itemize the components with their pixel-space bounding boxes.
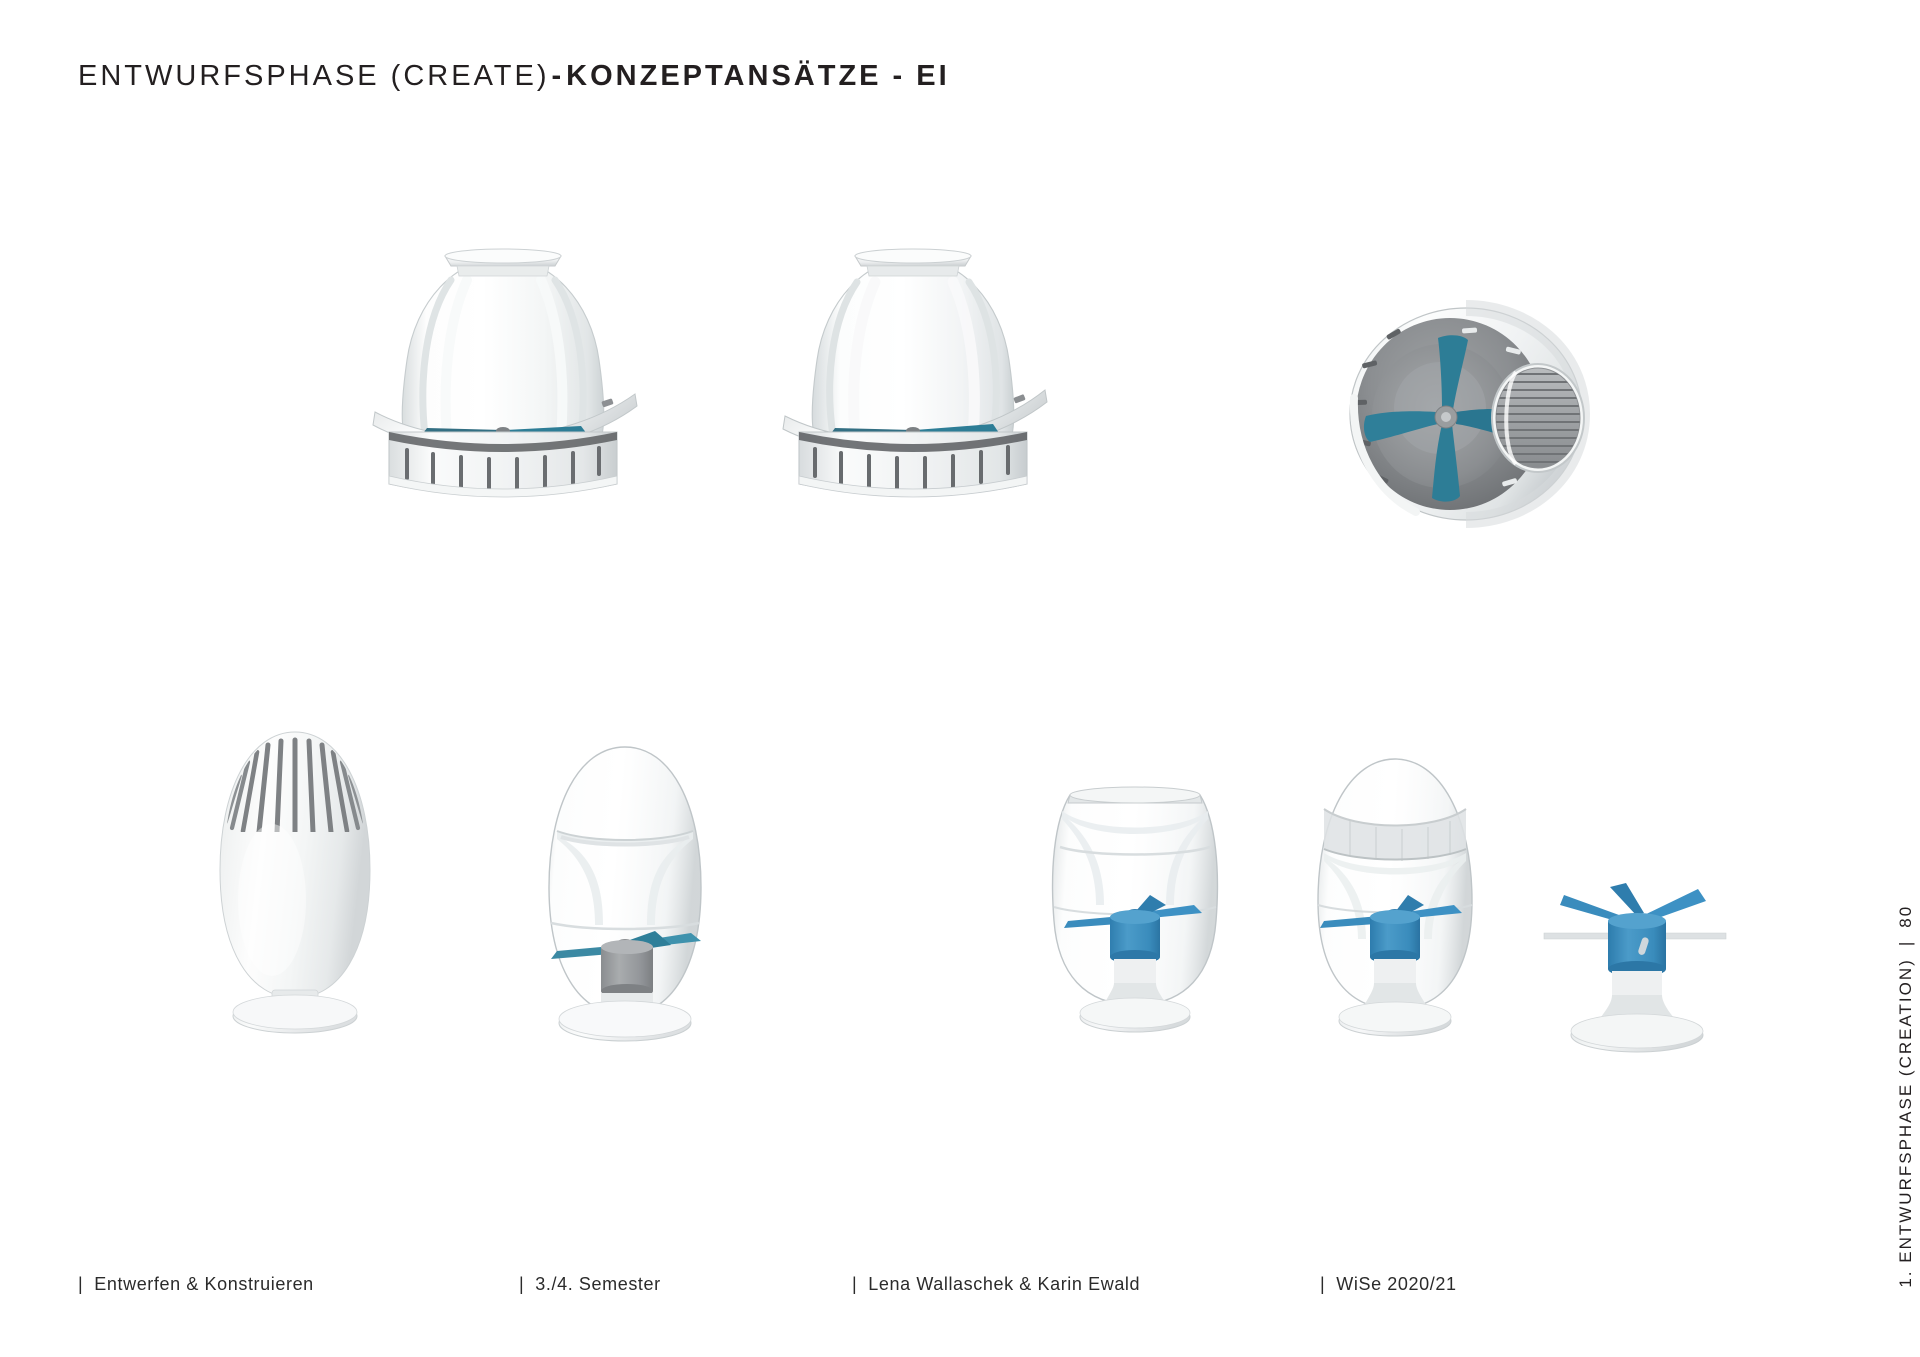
page-canvas: ENTWURFSPHASE (CREATE)-KONZEPTANSÄTZE - … [0,0,1920,1357]
side-chapter-marker: 1. ENTWURFSPHASE (CREATION)|80 [1858,0,1898,1357]
vent-slot [979,450,983,484]
vent-slot [895,456,899,493]
footer-bar: | [1320,1274,1325,1295]
dome-top-cap-shadow [457,266,549,276]
vent-slot [1006,445,1010,475]
page-footer: |Entwerfen & Konstruieren |3./4. Semeste… [0,1274,1920,1304]
band-clip [1013,394,1025,404]
vent-slot [459,455,463,491]
footer-label: Entwerfen & Konstruieren [94,1274,314,1294]
page-title-light: ENTWURFSPHASE (CREATE) [78,60,549,92]
motor-column [1374,959,1416,987]
vent-slot [571,451,575,485]
motor-top [601,940,653,954]
propeller-hub-center [1441,412,1451,422]
vent-slot [867,454,871,490]
render-dome-vented-base-right [765,240,1065,540]
footer-bar: | [78,1274,83,1295]
render-tumbler-fan-a [1030,755,1240,1065]
fan-blade-back [1610,883,1644,915]
motor-top [1608,913,1666,929]
footer-item-term: |WiSe 2020/21 [1320,1274,1457,1295]
base-disc-top [1571,1014,1703,1048]
egg-highlight [238,824,306,976]
vent-slot [813,447,817,478]
vent-slot [405,448,409,480]
motor-top [1370,910,1420,924]
render-egg-transparent-fan [505,735,745,1075]
render-drum-fan-front [1290,290,1610,540]
tumbler-fan-a-illustration [1030,755,1240,1065]
render-fan-core-only [1540,875,1730,1065]
footer-item-course: |Entwerfen & Konstruieren [78,1274,314,1295]
side-chapter-label: 1. ENTWURFSPHASE (CREATION) [1896,958,1915,1287]
footer-bar: | [519,1274,524,1295]
vent-slot [597,446,601,476]
footer-item-semester: |3./4. Semester [519,1274,661,1295]
dome-shell [812,258,1014,450]
egg-transparent-illustration [505,735,745,1075]
render-egg-closed-slotted [180,720,410,1060]
side-separator: | [1896,928,1915,958]
footer-item-authors: |Lena Wallaschek & Karin Ewald [852,1274,1140,1295]
vent-slot [951,454,955,490]
footer-label: WiSe 2020/21 [1336,1274,1456,1294]
footer-label: Lena Wallaschek & Karin Ewald [868,1274,1140,1294]
egg-closed-illustration [180,720,410,1060]
vent-slot [839,451,843,485]
dome-top-cap-plate [445,249,561,263]
page-title: ENTWURFSPHASE (CREATE)-KONZEPTANSÄTZE - … [78,60,950,93]
dome-vented-base-right-illustration [765,240,1065,540]
egg-base-top [233,995,357,1029]
fan-core-illustration [1540,875,1730,1065]
page-title-dash: - [549,60,566,92]
vent-slot [431,452,435,486]
vent-slot-light [1462,327,1477,333]
dome-shell [402,258,604,450]
render-tumbler-fan-b [1290,745,1500,1065]
base-disc-top [1080,998,1190,1028]
footer-label: 3./4. Semester [535,1274,660,1294]
motor-column [1612,971,1662,999]
motor-column [1114,959,1156,987]
tumbler-fan-b-illustration [1290,745,1500,1065]
dome-top-cap-shadow [867,266,959,276]
vent-slot [923,456,927,493]
dome-top-cap-plate [855,249,971,263]
base-disc-top [559,1001,691,1037]
dome-vented-base-left-illustration [355,240,655,540]
render-dome-vented-base-left [355,240,655,540]
shell-rim-top [1070,787,1200,803]
footer-bar: | [852,1274,857,1295]
side-page-number: 80 [1896,905,1915,928]
drum-fan-illustration [1290,290,1610,540]
vent-slot [543,455,547,491]
motor-top [1110,910,1160,924]
base-disc-top [1339,1002,1451,1032]
page-title-bold: KONZEPTANSÄTZE - EI [566,60,950,92]
